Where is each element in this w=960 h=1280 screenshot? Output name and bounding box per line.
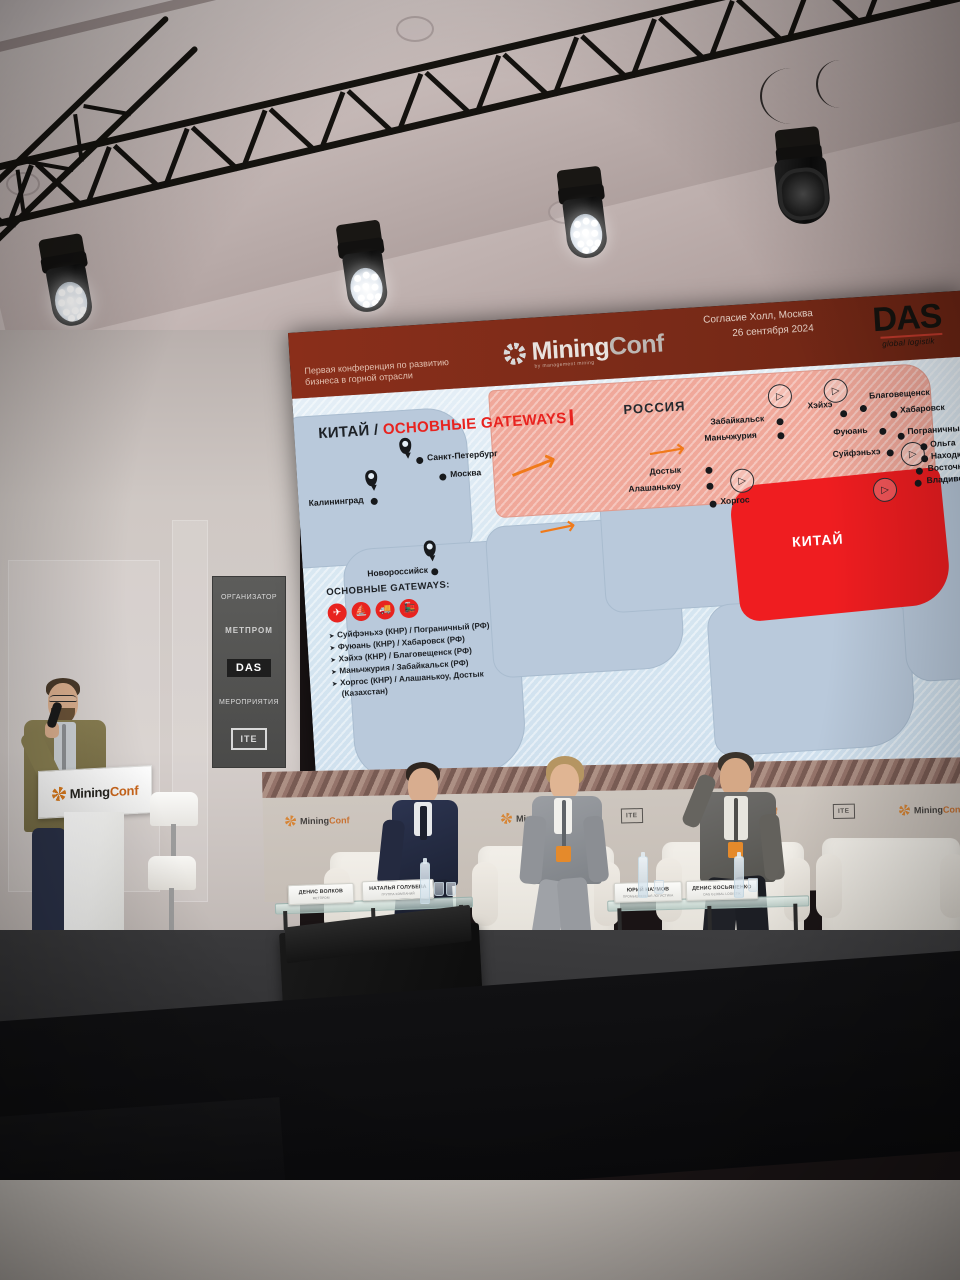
map-label-nakhodka: Находка — [931, 449, 960, 461]
backdrop-partner-mark: ITE — [833, 804, 855, 819]
banner-logo-das: DAS — [227, 659, 271, 677]
nameplate-role: ГРУППА КОМПАНИЙ — [381, 891, 414, 896]
banner-caption-sub: МЕРОПРИЯТИЯ — [219, 699, 279, 707]
brand-tail: Conf — [608, 329, 665, 360]
nameplate: ДЕНИС ВОЛКОВ МЕТПРОМ — [288, 883, 355, 905]
slide-tagline: Первая конференция по развитию бизнеса в… — [304, 357, 450, 389]
map-pin-saint-petersburg — [399, 437, 412, 454]
podium-logo-tail: Conf — [110, 782, 138, 798]
podium-logo-text: MiningConf — [70, 782, 138, 801]
country-label-china: КИТАЙ — [792, 531, 844, 550]
lanyard — [562, 800, 566, 848]
badge — [556, 846, 571, 862]
armchair-arm — [940, 854, 960, 918]
slide-brand-text: MiningConf — [531, 329, 665, 366]
map-label-vostochny: Восточный — [927, 460, 960, 473]
banner-logo-ite: ITE — [231, 728, 266, 750]
map-label-olga: Ольга — [930, 437, 956, 449]
nameplate-name: НАТАЛЬЯ ГОЛУБЕВА — [369, 884, 427, 892]
backdrop-logo-tail: Conf — [943, 804, 960, 814]
lamp-head — [45, 263, 95, 329]
map-pin-kaliningrad — [365, 470, 378, 487]
moving-head-light — [767, 125, 838, 239]
podium-panel: MiningConf — [38, 765, 152, 819]
nameplate-role: ПРОМЫШЛЕННАЯ ЛОГИСТИКА — [623, 893, 674, 898]
backdrop-logo: MiningConf — [285, 814, 350, 826]
banner-logo-metprom: МЕТПРОМ — [216, 623, 282, 638]
backdrop-logo-head: Mining — [300, 815, 329, 826]
backdrop-logo-text: MiningConf — [300, 815, 350, 826]
water-bottle — [734, 856, 744, 898]
flow-arrow-southwest: ⟶ — [537, 513, 579, 546]
map-pin-novorossiysk — [423, 540, 436, 557]
armchair-arm — [816, 854, 842, 918]
head — [720, 758, 751, 796]
gear-icon — [52, 787, 66, 802]
rig-cable — [760, 68, 822, 124]
lamp-head — [562, 196, 609, 260]
plane-icon: ✈ — [327, 603, 347, 623]
head — [550, 764, 579, 800]
lamp-lens — [348, 266, 385, 310]
slide-venue-block: Согласие Холл, Москва 26 сентября 2024 — [703, 306, 814, 343]
ship-icon: ⛵ — [351, 601, 371, 621]
drinking-glass — [654, 880, 664, 894]
gear-icon — [285, 815, 296, 826]
podium-logo-head: Mining — [70, 784, 110, 801]
nameplate-name: ДЕНИС ВОЛКОВ — [299, 888, 344, 896]
head — [408, 768, 438, 804]
led-presentation-screen: Первая конференция по развитию бизнеса в… — [288, 291, 960, 800]
eyeglasses — [49, 695, 77, 702]
water-bottle — [638, 856, 648, 898]
drinking-glass — [446, 882, 456, 896]
gear-icon — [899, 804, 910, 815]
stool-seat — [150, 792, 198, 826]
legend-icon-row: ✈ ⛵ 🚚 🚂 — [327, 594, 489, 623]
lanyard — [734, 798, 738, 844]
gear-icon — [501, 813, 512, 824]
das-wordmark: DAS — [872, 300, 943, 337]
sponsor-banner: ОРГАНИЗАТОР МЕТПРОМ DAS МЕРОПРИЯТИЯ ITE — [212, 576, 286, 768]
map-label-moscow: Москва — [450, 467, 482, 479]
drinking-glass — [748, 878, 758, 892]
legend-list: Суйфэньхэ (КНР) / Пограничный (РФ) Фуюан… — [329, 620, 494, 701]
nameplate: ЮРИЙ НАУМОВ ПРОМЫШЛЕННАЯ ЛОГИСТИКА — [614, 881, 683, 903]
backdrop-logo-tail: Conf — [329, 815, 350, 825]
necktie — [420, 806, 427, 840]
slide-map: РОССИЯ КИТАЙ КИТАЙ / ОСНОВНЫЕ GATEWAYS ⟶… — [292, 356, 960, 800]
map-label-dostyk: Достык — [649, 465, 681, 477]
lamp-head — [342, 249, 390, 314]
conference-photo: ОРГАНИЗАТОР МЕТПРОМ DAS МЕРОПРИЯТИЯ ITE … — [0, 0, 960, 1280]
marble-floor — [0, 1180, 960, 1280]
backdrop-logo-head: Mining — [914, 804, 943, 815]
banner-caption-top: ОРГАНИЗАТОР — [221, 594, 277, 602]
nameplate-role: МЕТПРОМ — [313, 895, 330, 900]
lamp-lens — [776, 165, 831, 222]
truck-icon: 🚚 — [375, 600, 395, 620]
drinking-glass — [434, 882, 444, 896]
slide-sponsor-logo: DAS global logistik — [872, 300, 944, 350]
map-label-khabarovsk: Хабаровск — [900, 402, 945, 415]
map-label-horgos: Хоргос — [720, 494, 750, 506]
flow-arrow-east: ⟶ — [646, 435, 687, 467]
lamp-head — [774, 155, 833, 226]
gear-icon — [503, 342, 526, 365]
ceiling-vent — [396, 16, 434, 42]
lamp-lens — [52, 279, 90, 324]
slide-brand-logo: MiningConf by management mining — [503, 329, 665, 368]
lamp-lens — [568, 212, 605, 256]
landmass-south-asia — [706, 593, 917, 757]
backdrop-logo: MiningConf — [899, 803, 960, 815]
slide-legend: ОСНОВНЫЕ GATEWAYS: ✈ ⛵ 🚚 🚂 Суйфэньхэ (КН… — [326, 577, 494, 701]
stool-seat — [148, 856, 196, 890]
backdrop-logo-text: MiningConf — [914, 804, 960, 815]
train-icon: 🚂 — [399, 598, 419, 618]
water-bottle — [420, 862, 430, 904]
lanyard — [62, 724, 66, 770]
rig-cable — [816, 60, 864, 108]
